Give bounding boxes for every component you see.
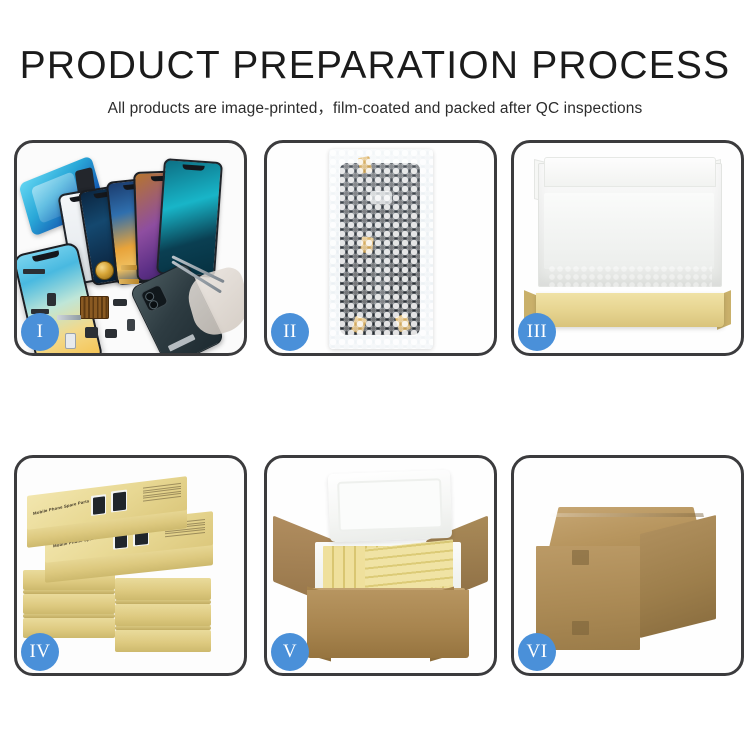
carton-tab [572, 550, 589, 565]
carton-side [640, 515, 716, 638]
carton-seam [548, 513, 704, 517]
copper-coil-part [95, 261, 114, 280]
spare-part [105, 329, 117, 338]
page-title: PRODUCT PREPARATION PROCESS [0, 0, 750, 85]
spare-part [121, 265, 137, 270]
tweezers-tool [172, 255, 238, 307]
bubble-wrap-bag [329, 149, 433, 349]
infographic-page: PRODUCT PREPARATION PROCESS All products… [0, 0, 750, 750]
process-step-5: V [264, 455, 497, 676]
step-badge-1: I [21, 313, 59, 351]
stacked-box [23, 594, 115, 614]
spare-part [65, 333, 76, 349]
step-badge-2: II [271, 313, 309, 351]
foam-lid [328, 470, 452, 542]
box-print-label: Mobile Phone Spare Parts [33, 498, 90, 516]
box-window [111, 490, 127, 513]
spare-part [127, 319, 135, 331]
box-window [91, 494, 106, 516]
spare-part [113, 299, 127, 306]
carton-tab [572, 621, 589, 635]
spare-part [47, 293, 56, 306]
step-badge-5: V [271, 633, 309, 671]
carton-body [307, 590, 469, 658]
step-badge-3: III [518, 313, 556, 351]
stacked-box [115, 630, 211, 652]
connector-grid-part [80, 296, 109, 319]
step-badge-4: IV [21, 633, 59, 671]
header: PRODUCT PREPARATION PROCESS All products… [0, 0, 750, 117]
process-step-3: III [511, 140, 744, 356]
process-step-4: Mobile Phone Spare Parts Mobile Phone Sp… [14, 455, 247, 676]
process-step-2: II [264, 140, 497, 356]
process-step-grid: I II [14, 140, 736, 688]
page-subtitle: All products are image-printed，film-coat… [0, 85, 750, 117]
stacked-box [115, 578, 211, 600]
process-step-6: VI [511, 455, 744, 676]
bubble-texture [329, 149, 433, 349]
spare-part [57, 315, 81, 320]
packed-yellow-boxes [365, 539, 453, 594]
spare-part [23, 269, 45, 274]
spare-part [85, 327, 98, 338]
kraft-box-base [536, 293, 724, 327]
stacked-box [115, 604, 211, 626]
step-badge-6: VI [518, 633, 556, 671]
foam-insert [544, 193, 714, 269]
process-step-1: I [14, 140, 247, 356]
spare-part [119, 279, 139, 284]
